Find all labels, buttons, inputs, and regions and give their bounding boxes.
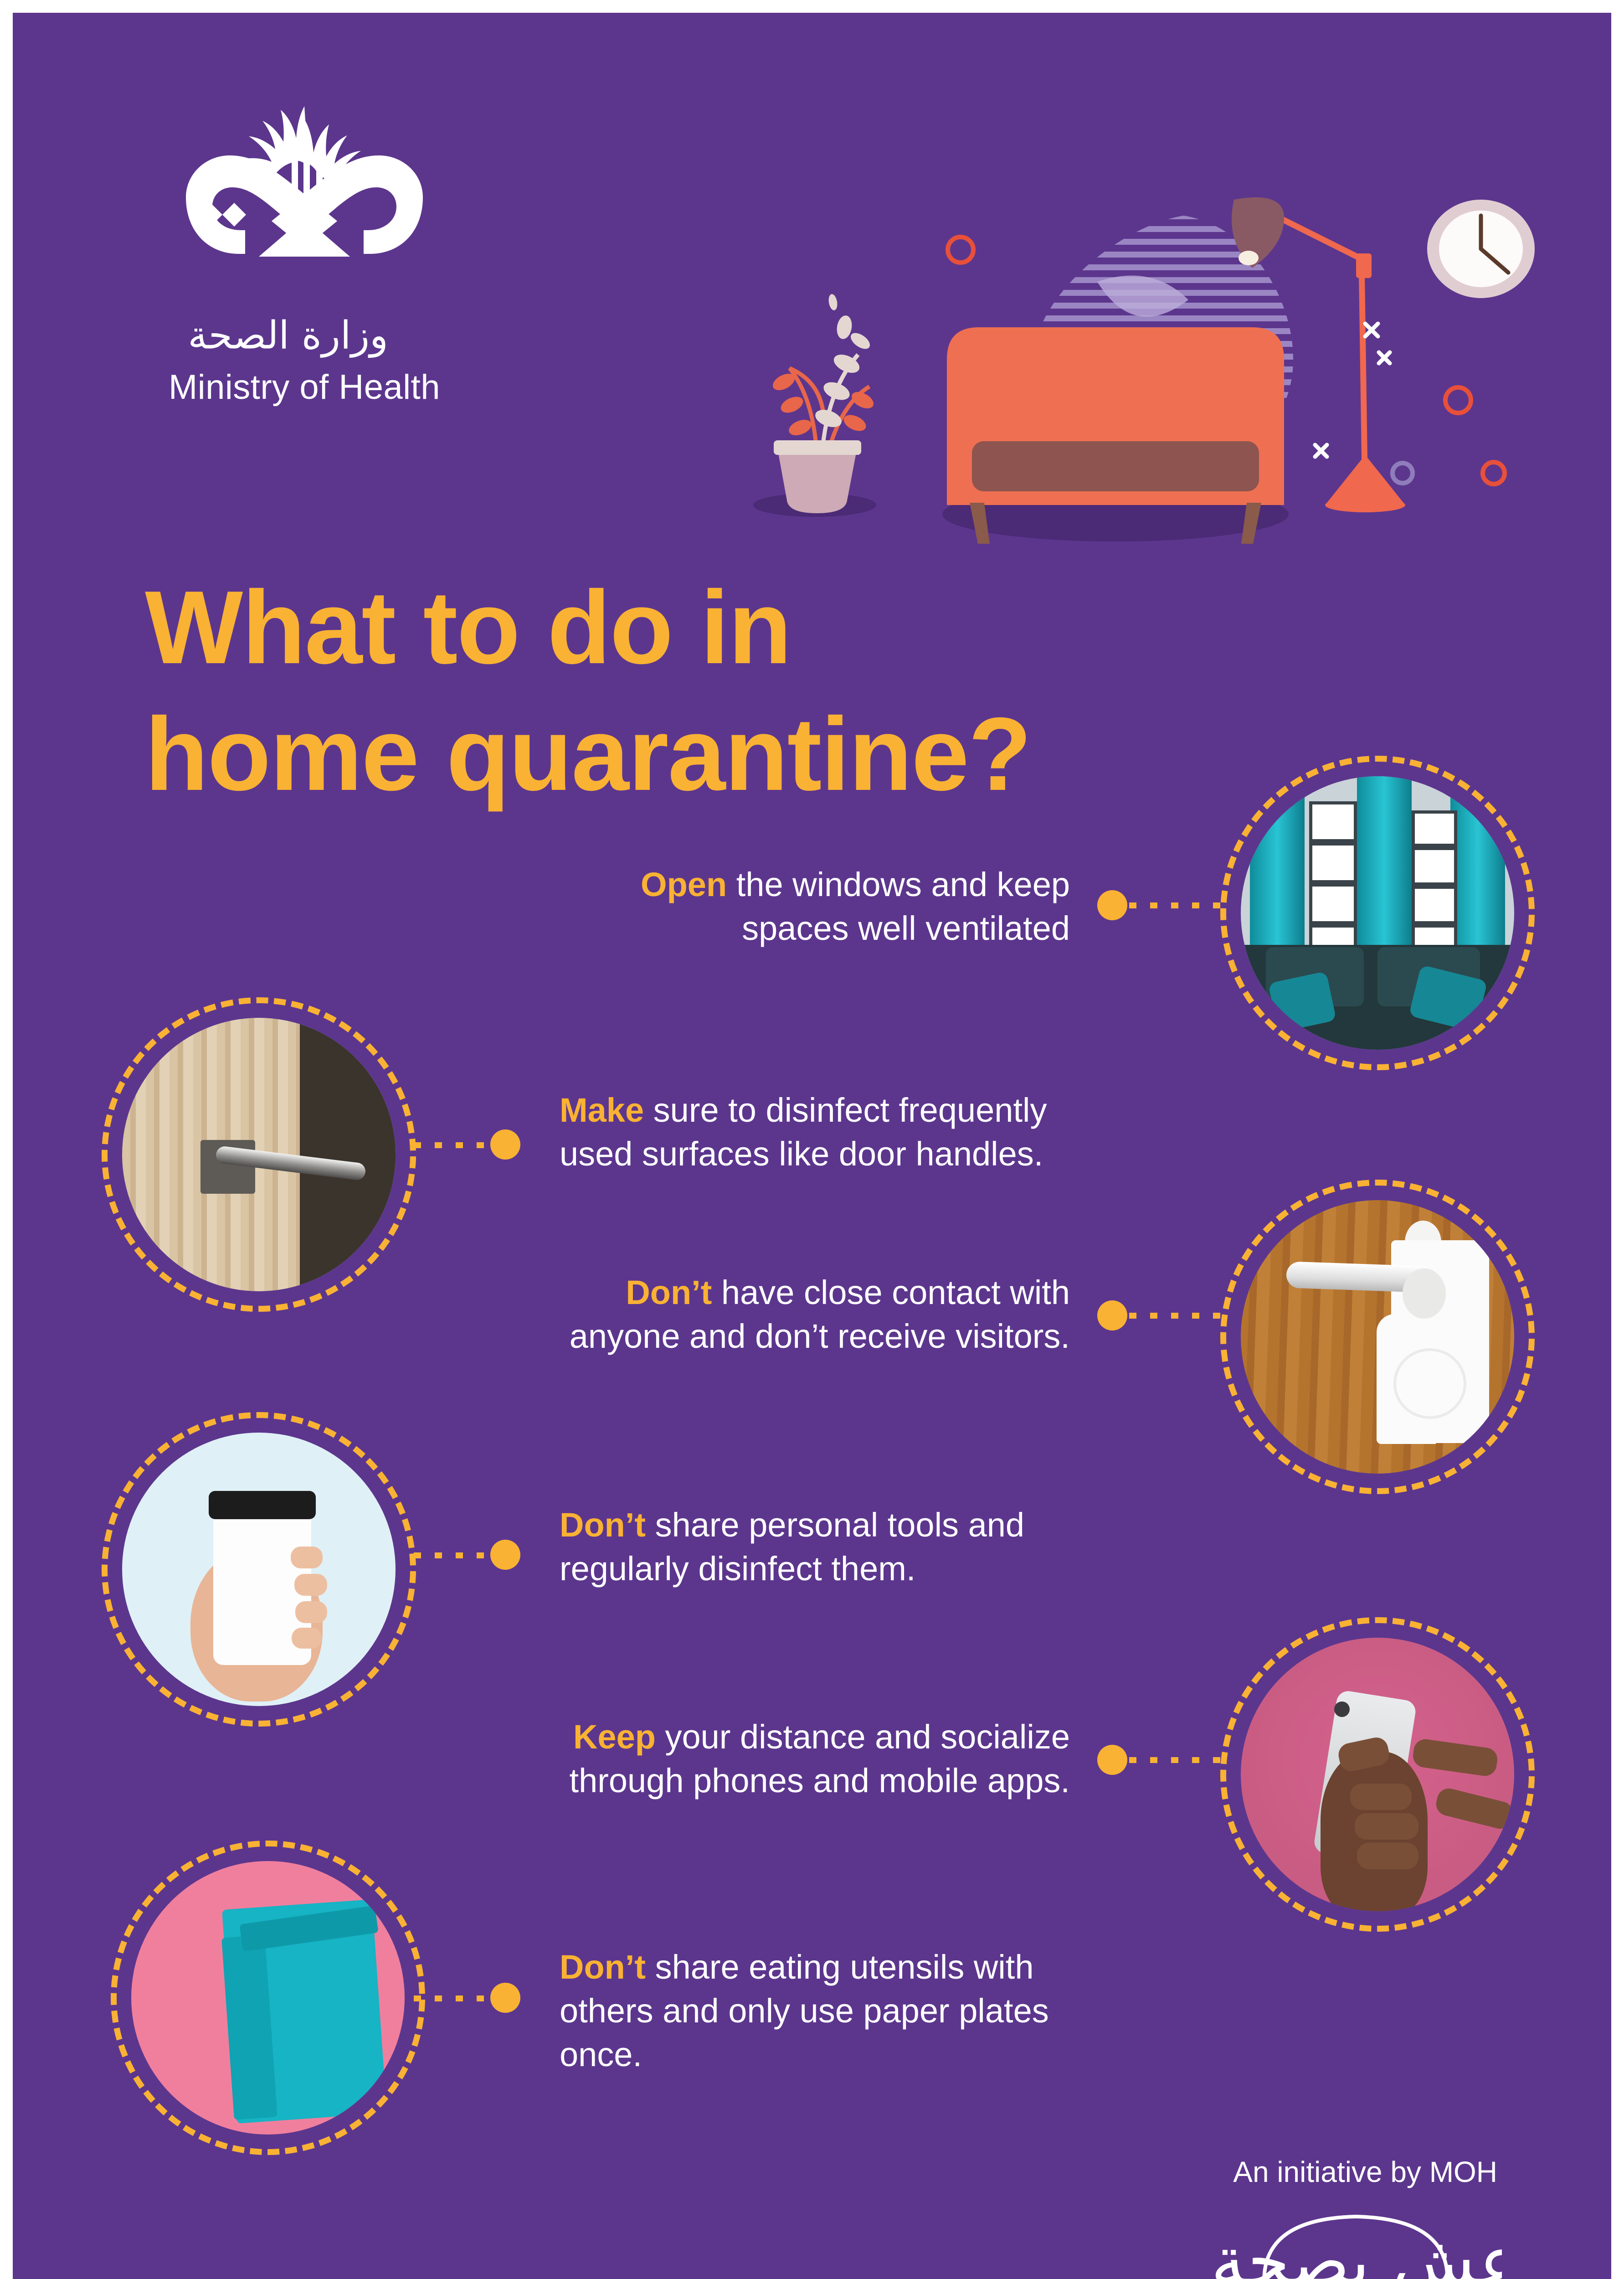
tip-2-connector [414,1142,496,1148]
tip-6-photo-towel [131,1861,405,2135]
tip-6-highlight: Don’t [560,1948,646,1986]
decorative-ring [1445,387,1471,413]
wall-clock-icon [1427,200,1535,298]
page-title: What to do in home quarantine? [145,564,1239,818]
campaign-arabic-text: عش بصحة [1211,2222,1502,2279]
decorative-ring [1483,462,1505,484]
tip-2-photo-door-handle [122,1018,396,1291]
tip-4-connector [414,1552,496,1558]
tip-6-connector [414,1995,496,2001]
tip-2-highlight: Make [560,1091,644,1129]
living-room-illustration [724,145,1553,564]
potted-plant-icon [770,294,876,513]
tip-1-highlight: Open [641,866,727,903]
tip-3-connector [1129,1313,1220,1319]
tip-4-highlight: Don’t [560,1506,646,1544]
logo-arabic-text: وزارة الصحة [188,313,388,358]
tip-4-photo-cup [122,1433,396,1706]
moh-logo-block: وزارة الصحة Ministry of Health [131,93,478,407]
tip-1-photo-window [1241,776,1514,1050]
tip-3-photo-door-hanger [1241,1200,1514,1474]
tip-6-bullet [490,1983,520,2013]
tip-1-text: Open the windows and keep spaces well ve… [560,863,1070,950]
poster-canvas: وزارة الصحة Ministry of Health [13,13,1611,2279]
title-line-2: home quarantine? [145,691,1239,818]
tip-2-bullet [490,1129,520,1160]
tip-5-text: Keep your distance and socialize through… [528,1715,1070,1803]
logo-english-text: Ministry of Health [131,367,478,407]
tip-3-text: Don’t have close contact with anyone and… [541,1271,1070,1358]
decorative-cross [1315,324,1390,457]
decorative-ring [1393,463,1413,483]
tip-4-bullet [490,1540,520,1570]
decorative-ring [948,237,973,263]
tip-3-bullet [1097,1300,1127,1330]
saudi-moh-emblem-icon [131,93,478,302]
moh-arabic-wordmark: وزارة الصحة [131,307,445,361]
tip-4-text: Don’t share personal tools and regularly… [560,1503,1070,1591]
tip-1-rest: the windows and keep spaces well ventila… [727,866,1070,947]
live-well-logo: عش بصحة Live Well [1210,2201,1502,2279]
tip-5-highlight: Keep [573,1718,656,1756]
tip-6-text: Don’t share eating utensils with others … [560,1945,1102,2077]
tip-5-bullet [1097,1745,1127,1775]
live-well-arabic-logo-icon: عش بصحة Live Well [1210,2201,1502,2279]
tip-1-bullet [1097,890,1127,920]
title-line-1: What to do in [145,564,1239,691]
tip-2-text: Make sure to disinfect frequently used s… [560,1088,1079,1176]
tip-5-photo-phone [1241,1638,1514,1911]
tip-3-highlight: Don’t [626,1274,712,1311]
initiative-label: An initiative by MOH [1233,2155,1497,2189]
tip-5-connector [1129,1757,1220,1763]
tip-1-connector [1129,902,1220,908]
